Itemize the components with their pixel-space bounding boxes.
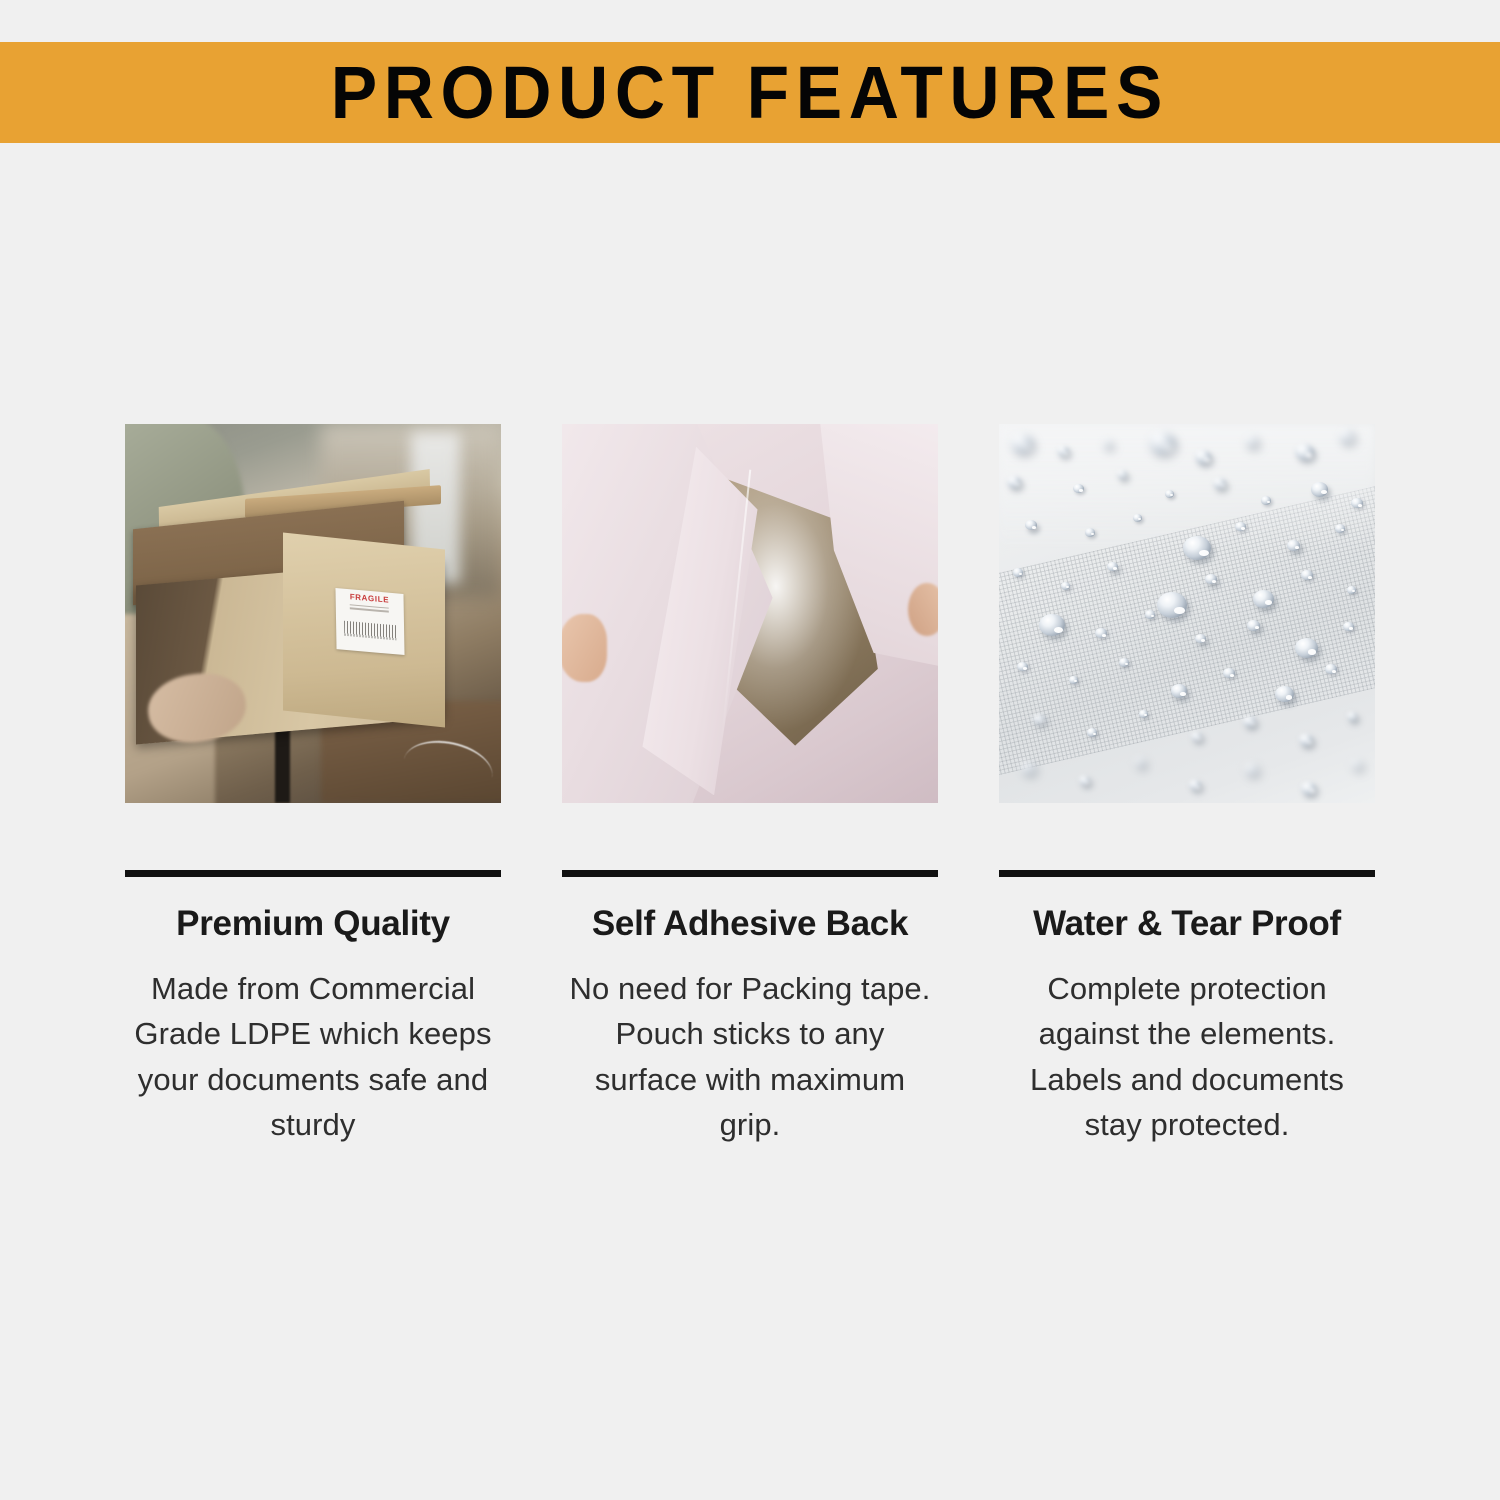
water-droplet bbox=[1261, 496, 1271, 505]
water-droplet bbox=[1157, 592, 1187, 618]
water-droplet bbox=[1135, 758, 1145, 767]
header-banner: PRODUCT FEATURES bbox=[0, 42, 1500, 143]
feature-title: Premium Quality bbox=[125, 905, 501, 944]
water-droplet bbox=[1087, 728, 1097, 737]
feature-title: Self Adhesive Back bbox=[562, 905, 938, 944]
feature-title: Water & Tear Proof bbox=[999, 905, 1375, 944]
water-droplet bbox=[1183, 536, 1211, 560]
feature-card-water-tear-proof: Water & Tear Proof Complete protection a… bbox=[999, 424, 1375, 1148]
water-droplet bbox=[1061, 582, 1070, 590]
divider-rule bbox=[125, 870, 501, 877]
water-beading-fabric-photo bbox=[999, 424, 1375, 803]
water-droplet bbox=[1013, 568, 1023, 577]
finger-left bbox=[562, 614, 607, 682]
water-droplet bbox=[1119, 658, 1129, 667]
water-droplet bbox=[1069, 676, 1078, 684]
warehouse-boxes-photo: FRAGILE bbox=[125, 424, 501, 803]
divider-rule bbox=[999, 870, 1375, 877]
water-droplet bbox=[1295, 638, 1318, 658]
feature-description: Complete protection against the elements… bbox=[999, 966, 1375, 1148]
water-droplet bbox=[1195, 450, 1211, 464]
feature-card-premium-quality: FRAGILE Premium Quality Made from Commer… bbox=[125, 424, 501, 1148]
fragile-label-text: FRAGILE bbox=[335, 591, 403, 606]
divider-rule bbox=[562, 870, 938, 877]
water-droplet bbox=[1339, 430, 1354, 443]
water-droplet bbox=[1165, 490, 1174, 498]
water-droplet bbox=[1335, 524, 1345, 533]
page-title: PRODUCT FEATURES bbox=[331, 56, 1169, 130]
barcode bbox=[344, 620, 396, 640]
water-droplet bbox=[1347, 586, 1356, 594]
feature-description: No need for Packing tape. Pouch sticks t… bbox=[562, 966, 938, 1148]
feature-card-self-adhesive-back: Self Adhesive Back No need for Packing t… bbox=[562, 424, 938, 1148]
water-droplet bbox=[1145, 610, 1155, 619]
water-droplet bbox=[1139, 710, 1148, 718]
water-droplet bbox=[1301, 782, 1316, 795]
water-droplet bbox=[1021, 762, 1035, 774]
feature-description: Made from Commercial Grade LDPE which ke… bbox=[125, 966, 501, 1148]
water-droplet bbox=[1299, 734, 1313, 746]
water-droplet bbox=[1117, 470, 1127, 479]
water-droplet bbox=[1171, 684, 1187, 698]
water-droplet bbox=[1085, 528, 1095, 537]
water-droplet bbox=[1311, 482, 1328, 497]
water-droplet bbox=[1011, 434, 1033, 453]
water-droplet bbox=[1133, 514, 1142, 522]
water-droplet bbox=[1103, 440, 1112, 448]
water-droplet bbox=[1007, 476, 1021, 488]
water-droplet bbox=[1347, 712, 1357, 721]
water-droplet bbox=[1253, 590, 1274, 608]
fragile-label: FRAGILE bbox=[335, 588, 404, 655]
peeling-adhesive-sheet-photo bbox=[562, 424, 938, 803]
feature-columns: FRAGILE Premium Quality Made from Commer… bbox=[125, 424, 1375, 1148]
